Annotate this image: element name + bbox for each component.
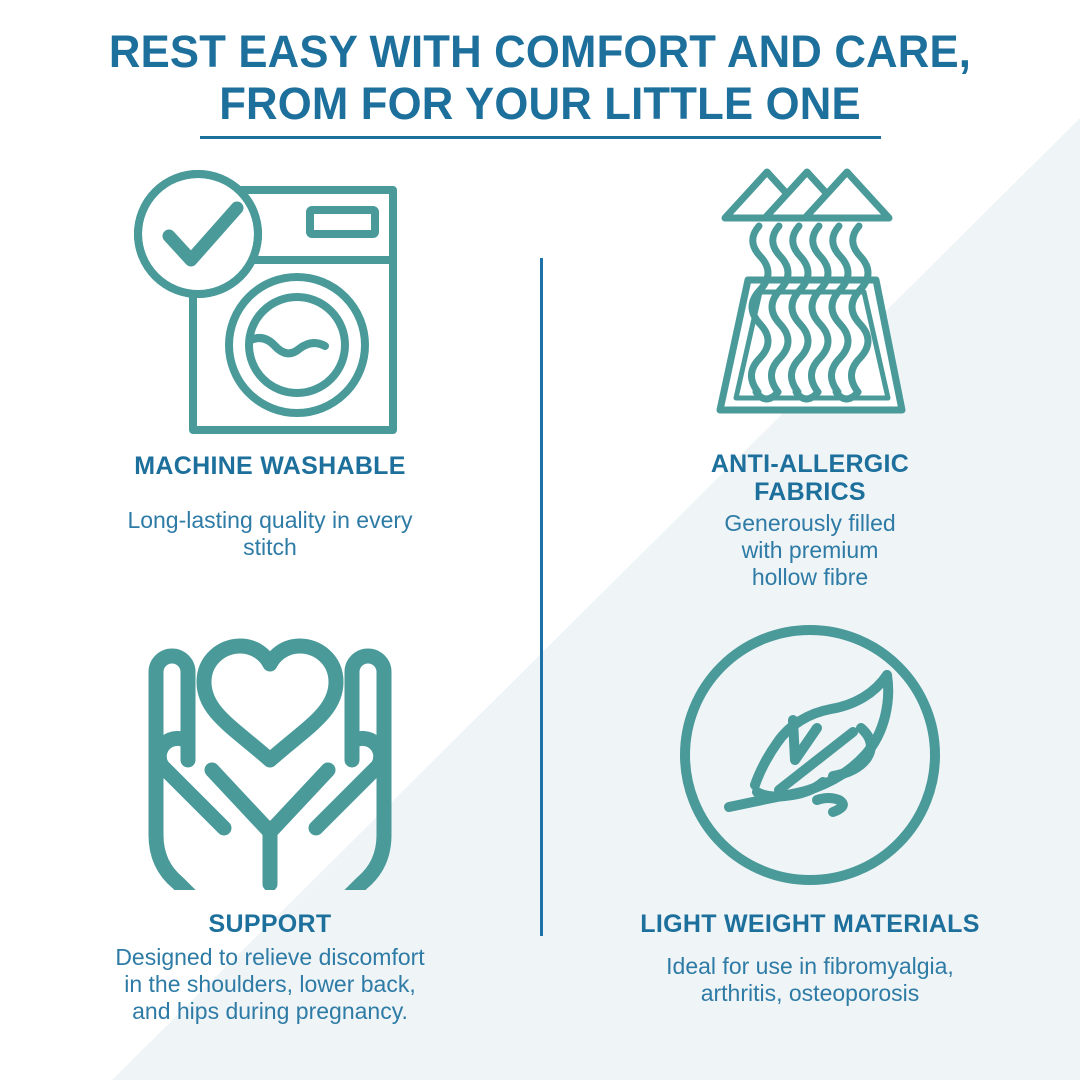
desc-line: arthritis, osteoporosis (701, 980, 920, 1006)
desc-line: in the shoulders, lower back, (124, 971, 416, 997)
desc-line: with premium (742, 537, 879, 563)
desc-line: Generously filled (724, 510, 895, 536)
feature-title: MACHINE WASHABLE (20, 452, 520, 480)
title-line-1: REST EASY WITH COMFORT AND CARE, (16, 26, 1064, 78)
hands-holding-heart-icon (20, 620, 520, 890)
page-title: REST EASY WITH COMFORT AND CARE, FROM FO… (0, 26, 1080, 139)
title-underline (200, 136, 881, 139)
desc-line: Designed to relieve discomfort (115, 944, 424, 970)
feature-description: Ideal for use in fibromyalgia, arthritis… (560, 953, 1060, 1007)
desc-line: hollow fibre (752, 564, 868, 590)
breathable-fabric-icon (560, 160, 1060, 440)
feature-machine-washable: MACHINE WASHABLE Long-lasting quality in… (20, 160, 520, 590)
title-line-2: FROM FOR YOUR LITTLE ONE (16, 78, 1064, 130)
feature-title-line: ANTI-ALLERGIC (711, 450, 909, 478)
desc-line: Ideal for use in fibromyalgia, (666, 953, 954, 979)
feature-description: Generously filled with premium hollow fi… (560, 510, 1060, 591)
feature-description: Designed to relieve discomfort in the sh… (20, 944, 520, 1025)
feature-title: ANTI-ALLERGIC FABRICS (560, 450, 1060, 506)
feature-title: LIGHT WEIGHT MATERIALS (560, 910, 1060, 938)
feature-light-weight-materials: LIGHT WEIGHT MATERIALS Ideal for use in … (560, 620, 1060, 1050)
desc-line: and hips during pregnancy. (132, 998, 408, 1024)
desc-line: stitch (243, 534, 297, 560)
feature-description: Long-lasting quality in every stitch (20, 507, 520, 561)
washing-machine-check-icon (20, 160, 520, 440)
infographic-content: REST EASY WITH COMFORT AND CARE, FROM FO… (0, 0, 1080, 1080)
feather-in-circle-icon (560, 620, 1060, 890)
feature-anti-allergic-fabrics: ANTI-ALLERGIC FABRICS Generously filled … (560, 160, 1060, 590)
infographic-canvas: REST EASY WITH COMFORT AND CARE, FROM FO… (0, 0, 1080, 1080)
desc-line: Long-lasting quality in every (127, 507, 412, 533)
feature-support: SUPPORT Designed to relieve discomfort i… (20, 620, 520, 1050)
feature-title: SUPPORT (20, 910, 520, 938)
feature-title-line: FABRICS (754, 478, 866, 506)
vertical-divider (540, 258, 543, 936)
